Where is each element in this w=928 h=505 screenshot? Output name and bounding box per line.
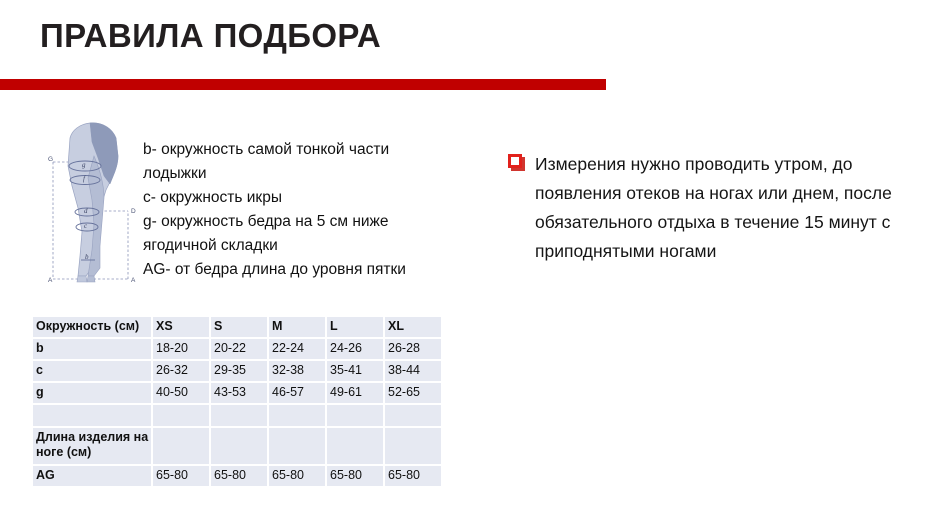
cell-xs: 65-80	[153, 466, 211, 488]
table-row: c 26-32 29-35 32-38 35-41 38-44	[33, 361, 443, 383]
cell-m: 22-24	[269, 339, 327, 361]
group-cell-l	[327, 428, 385, 466]
cell-xs: 26-32	[153, 361, 211, 383]
group-cell-m	[269, 428, 327, 466]
cell-l: 35-41	[327, 361, 385, 383]
leg-diagram-svg: g f d c b G D A A	[48, 116, 148, 294]
table-row: b 18-20 20-22 22-24 24-26 26-28	[33, 339, 443, 361]
red-hollow-square-bullet-icon	[508, 154, 528, 174]
header-cell-l: L	[327, 317, 385, 339]
header-cell-xl: XL	[385, 317, 443, 339]
cell-s: 65-80	[211, 466, 269, 488]
row-label: g	[33, 383, 153, 405]
cell-m: 32-38	[269, 361, 327, 383]
table-row: g 40-50 43-53 46-57 49-61 52-65	[33, 383, 443, 405]
note-text: Измерения нужно проводить утром, до появ…	[535, 150, 908, 266]
header-cell-measure: Окружность (см)	[33, 317, 153, 339]
table-spacer-row	[33, 405, 443, 428]
svg-text:D: D	[131, 208, 136, 215]
cell-xl: 38-44	[385, 361, 443, 383]
cell-s: 20-22	[211, 339, 269, 361]
cell-m: 46-57	[269, 383, 327, 405]
cell-xs: 40-50	[153, 383, 211, 405]
table-header-row: Окружность (см) XS S M L XL	[33, 317, 443, 339]
header-cell-m: M	[269, 317, 327, 339]
cell-xl: 26-28	[385, 339, 443, 361]
cell-l: 24-26	[327, 339, 385, 361]
cell-m: 65-80	[269, 466, 327, 488]
legend-line-b: b- окружность самой тонкой части лодыжки	[143, 138, 443, 186]
header-cell-s: S	[211, 317, 269, 339]
size-chart-table: Окружность (см) XS S M L XL b 18-20 20-2…	[33, 317, 443, 488]
cell-l: 65-80	[327, 466, 385, 488]
cell-xl: 65-80	[385, 466, 443, 488]
cell-l: 49-61	[327, 383, 385, 405]
table-row: AG 65-80 65-80 65-80 65-80 65-80	[33, 466, 443, 488]
cell-s: 43-53	[211, 383, 269, 405]
group-row-label: Длина изделия на ноге (см)	[33, 428, 153, 466]
spacer-cell	[33, 405, 153, 428]
spacer-cell	[327, 405, 385, 428]
bullet-main-shape	[508, 154, 522, 168]
svg-text:d: d	[84, 207, 88, 215]
cell-s: 29-35	[211, 361, 269, 383]
title-underline-rule	[0, 79, 606, 90]
spacer-cell	[153, 405, 211, 428]
cell-xl: 52-65	[385, 383, 443, 405]
spacer-cell	[211, 405, 269, 428]
leg-measurement-diagram: g f d c b G D A A	[48, 116, 148, 294]
cell-xs: 18-20	[153, 339, 211, 361]
measurement-timing-note: Измерения нужно проводить утром, до появ…	[508, 150, 908, 266]
legend-line-c: c- окружность икры	[143, 186, 443, 210]
spacer-cell	[385, 405, 443, 428]
measurement-legend: b- окружность самой тонкой части лодыжки…	[143, 138, 443, 282]
svg-text:A: A	[131, 277, 136, 284]
group-cell-xs	[153, 428, 211, 466]
page-title: ПРАВИЛА ПОДБОРА	[40, 17, 381, 55]
row-label: c	[33, 361, 153, 383]
group-cell-xl	[385, 428, 443, 466]
svg-text:b: b	[85, 253, 89, 261]
svg-text:A: A	[48, 277, 53, 284]
row-label: AG	[33, 466, 153, 488]
row-label: b	[33, 339, 153, 361]
header-cell-xs: XS	[153, 317, 211, 339]
legend-line-ag: AG- от бедра длина до уровня пятки	[143, 258, 443, 282]
group-cell-s	[211, 428, 269, 466]
spacer-cell	[269, 405, 327, 428]
svg-text:G: G	[48, 156, 53, 163]
table-group-row: Длина изделия на ноге (см)	[33, 428, 443, 466]
svg-text:g: g	[82, 161, 86, 169]
leg-silhouette	[68, 123, 118, 282]
legend-line-g: g- окружность бедра на 5 см ниже ягодичн…	[143, 210, 443, 258]
